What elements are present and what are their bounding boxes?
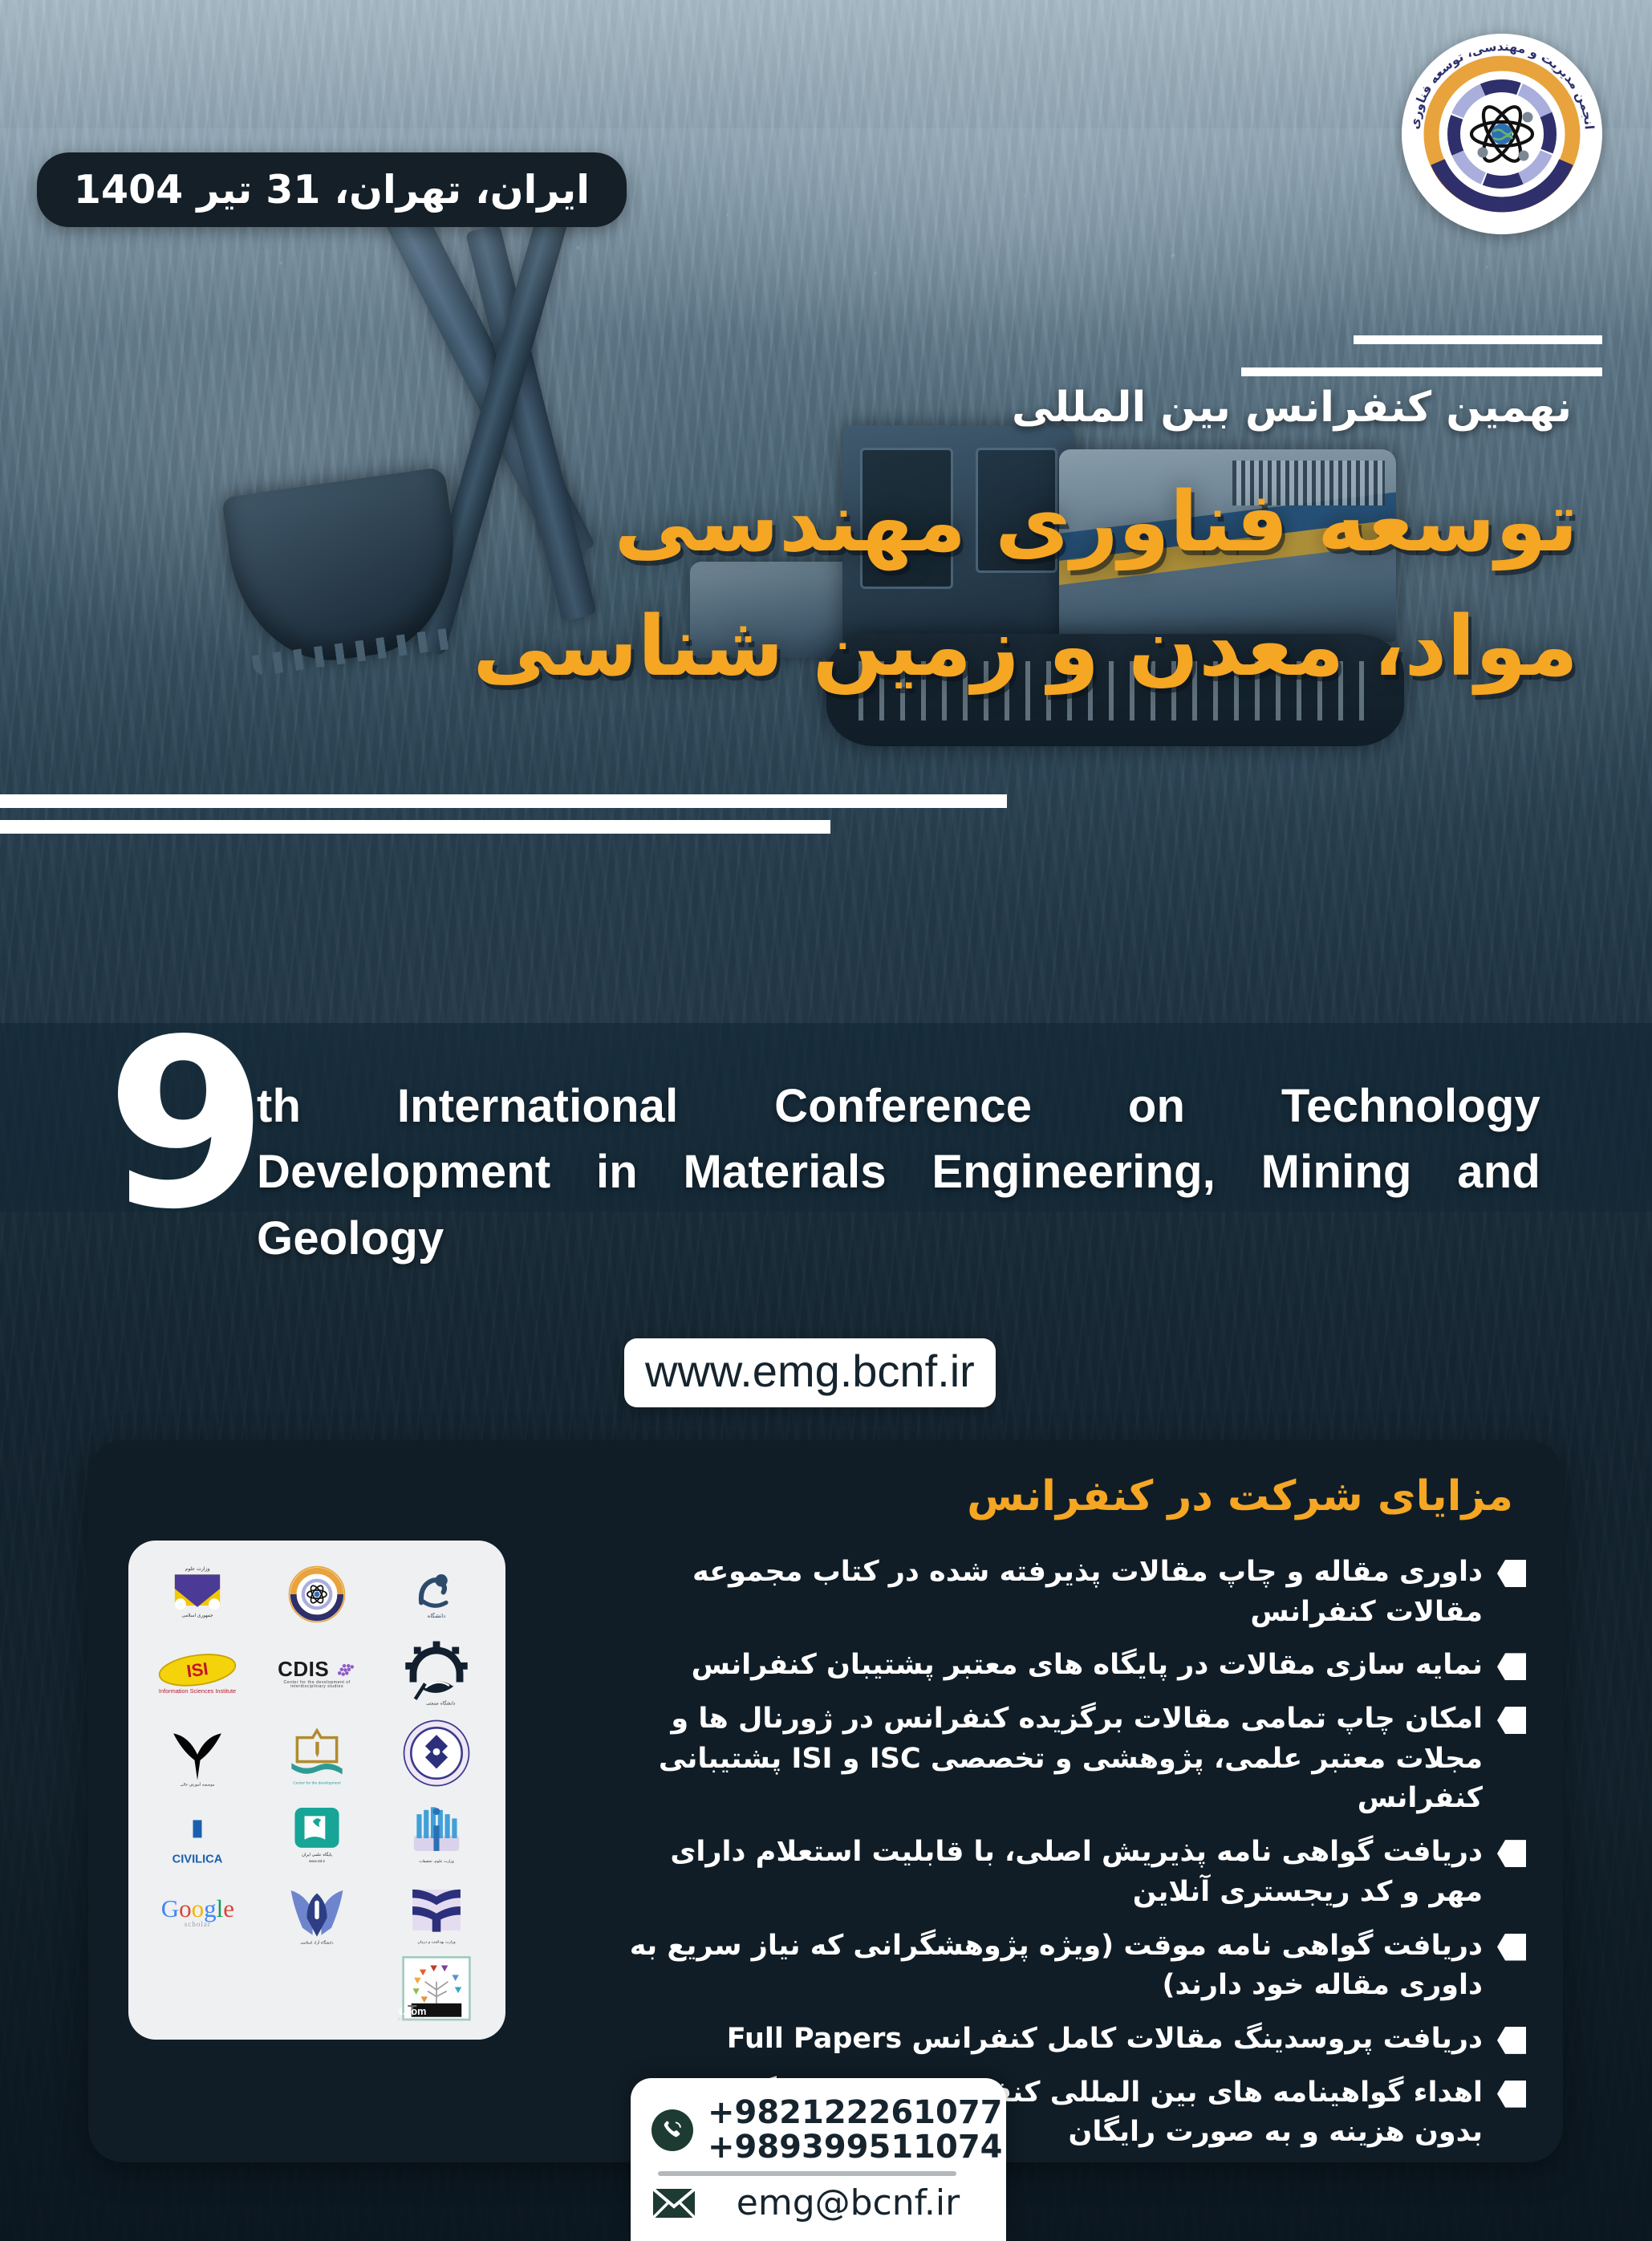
google-scholar-wordmark: Google scholar <box>161 1896 234 1928</box>
black-wings-icon: موسسه آموزش عالی <box>162 1718 233 1788</box>
list-item: امکان چاپ تمامی مقالات برگزیده کنفرانس د… <box>619 1699 1526 1819</box>
svg-text:وزارت بهداشت و درمان: وزارت بهداشت و درمان <box>417 1939 455 1944</box>
civilica-label: CIVILICA <box>173 1853 223 1864</box>
isi-icon: ISI Information Sciences Institute <box>153 1650 242 1697</box>
phone-number-1: +982122261077 <box>708 2096 1003 2130</box>
svg-text:Information Sciences Institute: Information Sciences Institute <box>159 1687 236 1695</box>
ministry-health-logo: وزارت بهداشت و درمان <box>378 1874 494 1950</box>
benefit-text: دریافت گواهی نامه موقت (ویژه پژوهشگرانی … <box>619 1926 1483 2006</box>
benefit-text: دریافت پروسدینگ مقالات کامل کنفرانس Full… <box>619 2020 1483 2060</box>
envelope-glyph <box>651 2186 696 2220</box>
university-industrial-gear-logo: دانشگاه صنعتی <box>378 1636 494 1712</box>
benefit-text: دریافت گواهی نامه پذیریش اصلی، با قابلیت… <box>619 1833 1483 1912</box>
association-emblem-icon: انجمن مدیریت و مهندسی، توسعه فناوری Asso… <box>1402 34 1602 234</box>
svg-text:وزارت علوم: وزارت علوم <box>185 1566 210 1572</box>
lavender-book-icon: وزارت بهداشت و درمان <box>401 1877 472 1947</box>
chevron-left-icon <box>1497 2027 1526 2054</box>
svg-text:پایگاه علمی ایران: پایگاه علمی ایران <box>302 1852 332 1857</box>
benefits-panel: مزایای شرکت در کنفرانس داوری مقاله و چاپ… <box>88 1440 1563 2162</box>
cdis-logo: CDIS Center for the development ofinterd… <box>259 1636 375 1712</box>
list-item: نمایه سازی مقالات در پایگاه های معتبر پش… <box>619 1646 1526 1686</box>
svg-text:دانشگاه آزاد اسلامی: دانشگاه آزاد اسلامی <box>300 1939 333 1945</box>
edition-number: 9 <box>106 1035 263 1216</box>
civilica-logo: CIVILICA <box>140 1794 256 1870</box>
chevron-left-icon <box>1497 1653 1526 1680</box>
svg-text:دانشگاه: دانشگاه <box>427 1613 445 1620</box>
cdis-wordmark: CDIS Center for the development ofinterd… <box>278 1658 356 1689</box>
sponsor-logos-grid: دانشگاه <box>128 1541 505 2040</box>
association-logo: انجمن مدیریت و مهندسی، توسعه فناوری Asso… <box>1402 34 1602 234</box>
english-title-line1: th International Conference on Technolog… <box>257 1074 1540 1139</box>
association-amet-icon <box>282 1560 351 1629</box>
benefit-text: نمایه سازی مقالات در پایگاه های معتبر پش… <box>619 1646 1483 1686</box>
persian-title-line2: مواد، معدن و زمین شناسی <box>473 606 1578 688</box>
cdis-label: CDIS <box>278 1657 329 1681</box>
benefits-list: داوری مقاله و چاپ مقالات پذیرفته شده در … <box>619 1553 1526 2153</box>
teal-book-icon: پایگاه علمی ایران www.sid.ir <box>282 1798 351 1867</box>
university-tehran-icon: دانشگاه <box>402 1560 471 1629</box>
phone-row[interactable]: +982122261077 +989399511074 <box>651 2096 985 2165</box>
decor-rule-top-1 <box>1354 335 1602 344</box>
cdis-dots-icon <box>335 1662 356 1679</box>
chevron-left-icon <box>1497 2081 1526 2108</box>
tpbin-icon: T TPBIN.com Sponsored And Indexed <box>398 1955 475 2022</box>
svg-text:وزارت علوم، تحقیقات: وزارت علوم، تحقیقات <box>419 1859 454 1864</box>
phone-glyph <box>660 2118 684 2142</box>
isc-seal-logo <box>378 1715 494 1792</box>
list-item: دریافت گواهی نامه پذیریش اصلی، با قابلیت… <box>619 1833 1526 1912</box>
ministry-research-logo: وزارت علوم، تحقیقات <box>378 1794 494 1870</box>
decor-rule-top-2 <box>1241 367 1602 376</box>
conference-poster: ایران، تهران، 31 تیر 1404 انجمن مدیریت و… <box>0 0 1652 2241</box>
svg-text:دانشگاه صنعتی: دانشگاه صنعتی <box>426 1700 456 1707</box>
chevron-left-icon <box>1497 1934 1526 1961</box>
pen-book-icon: Center for the development <box>282 1718 352 1788</box>
benefit-text: داوری مقاله و چاپ مقالات پذیرفته شده در … <box>619 1553 1483 1632</box>
contact-divider <box>658 2171 956 2176</box>
svg-text:Sponsored And Indexed: Sponsored And Indexed <box>398 2017 424 2022</box>
svg-text:and Engineering of Technology: and Engineering of Technology <box>1402 34 1404 36</box>
phone-numbers: +982122261077 +989399511074 <box>708 2096 1003 2165</box>
list-item: داوری مقاله و چاپ مقالات پذیرفته شده در … <box>619 1553 1526 1632</box>
google-scholar-logo: Google scholar <box>140 1874 256 1950</box>
benefits-heading: مزایای شرکت در کنفرانس <box>967 1472 1513 1520</box>
website-url[interactable]: www.emg.bcnf.ir <box>624 1338 996 1407</box>
tpbin-logo: T TPBIN.com Sponsored And Indexed <box>378 1953 494 2024</box>
islamic-azad-university-logo: دانشگاه آزاد اسلامی <box>259 1874 375 1950</box>
svg-text:www.sid.ir: www.sid.ir <box>309 1859 326 1863</box>
benefit-text: امکان چاپ تمامی مقالات برگزیده کنفرانس د… <box>619 1699 1483 1819</box>
svg-text:Association for Management: Association for Management <box>1402 34 1405 36</box>
decor-rule-bottom-2 <box>0 820 830 834</box>
association-amet-logo <box>259 1557 375 1633</box>
svg-text:جمهوری اسلامی: جمهوری اسلامی <box>182 1614 214 1619</box>
phone-number-2: +989399511074 <box>708 2130 1003 2165</box>
svg-text:موسسه آموزش عالی: موسسه آموزش عالی <box>181 1781 215 1787</box>
institute-higher-education-logo: موسسه آموزش عالی <box>140 1715 256 1792</box>
chevron-left-icon <box>1497 1707 1526 1734</box>
university-tehran-logo: دانشگاه <box>378 1557 494 1633</box>
persian-subtitle: نهمین کنفرانس بین المللی <box>1012 385 1572 431</box>
date-location-badge: ایران، تهران، 31 تیر 1404 <box>37 152 627 227</box>
ministry-science-logo: وزارت علوم جمهوری اسلامی <box>140 1557 256 1633</box>
tpbin-label: TPBIN.com <box>398 2006 426 2017</box>
sid-logo: پایگاه علمی ایران www.sid.ir <box>259 1794 375 1870</box>
chevron-left-icon <box>1497 1560 1526 1587</box>
isi-logo: ISI Information Sciences Institute <box>140 1636 256 1712</box>
list-item: دریافت گواهی نامه موقت (ویژه پژوهشگرانی … <box>619 1926 1526 2006</box>
azad-university-icon: دانشگاه آزاد اسلامی <box>281 1876 353 1948</box>
email-row[interactable]: emg@bcnf.ir <box>651 2182 985 2223</box>
list-item: دریافت پروسدینگ مقالات کامل کنفرانس Full… <box>619 2020 1526 2060</box>
envelope-icon <box>651 2186 696 2220</box>
decor-rule-bottom-1 <box>0 794 1007 808</box>
gear-icon: دانشگاه صنعتی <box>401 1638 472 1709</box>
email-address: emg@bcnf.ir <box>711 2182 985 2223</box>
contact-card: +982122261077 +989399511074 emg@bcnf.ir <box>631 2078 1006 2241</box>
noor-magiran-logo: Center for the development <box>259 1715 375 1792</box>
civilica-icon: CIVILICA <box>153 1801 242 1865</box>
blue-flame-icon: وزارت علوم، تحقیقات <box>401 1797 472 1868</box>
chevron-left-icon <box>1497 1840 1526 1867</box>
english-title-line2: Development in Materials Engineering, Mi… <box>257 1139 1540 1272</box>
phone-in-circle-icon <box>651 2109 693 2151</box>
isc-seal-icon <box>401 1718 472 1788</box>
english-title: th International Conference on Technolog… <box>257 1074 1540 1272</box>
isi-label: ISI <box>185 1658 209 1682</box>
svg-text:Center for the development: Center for the development <box>293 1781 341 1786</box>
persian-title-line1: توسعه فناوری مهندسی <box>614 481 1578 564</box>
ministry-science-icon: وزارت علوم جمهوری اسلامی <box>162 1559 233 1630</box>
